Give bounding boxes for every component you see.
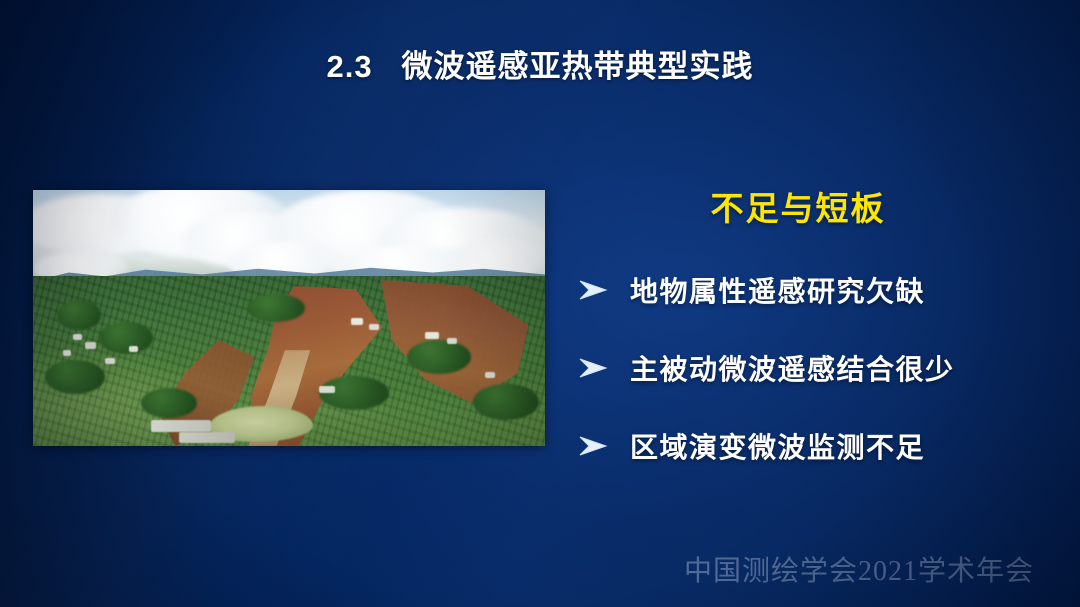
slide-title: 2.3 微波遥感亚热带典型实践 — [0, 41, 1080, 86]
arrow-bullet-icon — [556, 279, 630, 301]
photo-shading-overlay — [33, 190, 545, 446]
bullet-text: 主被动微波遥感结合很少 — [630, 348, 955, 388]
section-heading: 不足与短板 — [556, 182, 1026, 230]
content-column: 不足与短板 地物属性遥感研究欠缺 主被动微波遥感结合很少 — [556, 182, 1026, 466]
arrow-bullet-icon — [556, 435, 630, 457]
footer-watermark: 中国测绘学会2021学术年会 — [0, 549, 1080, 589]
presentation-slide: 2.3 微波遥感亚热带典型实践 — [0, 0, 1080, 607]
bullet-text: 地物属性遥感研究欠缺 — [630, 270, 925, 310]
bullet-text: 区域演变微波监测不足 — [630, 426, 925, 466]
list-item: 区域演变微波监测不足 — [556, 426, 1026, 466]
arrow-bullet-icon — [556, 357, 630, 379]
bullet-list: 地物属性遥感研究欠缺 主被动微波遥感结合很少 区域演变微波监测不足 — [556, 270, 1026, 466]
list-item: 主被动微波遥感结合很少 — [556, 348, 1026, 388]
list-item: 地物属性遥感研究欠缺 — [556, 270, 1026, 310]
landslide-photo — [33, 190, 545, 446]
